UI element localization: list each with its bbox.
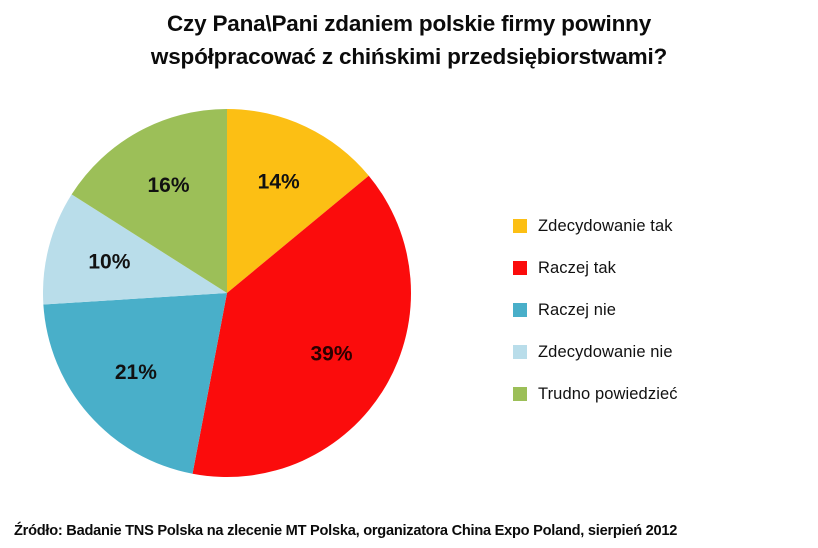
chart-page: Czy Pana\Pani zdaniem polskie firmy powi…: [0, 0, 818, 548]
legend-item[interactable]: Raczej tak: [513, 247, 793, 289]
legend-item-label: Raczej tak: [538, 259, 616, 278]
legend-color-swatch: [513, 261, 527, 275]
legend-item-label: Zdecydowanie tak: [538, 217, 673, 236]
pie-slice-value-label: 14%: [258, 171, 300, 194]
legend-color-swatch: [513, 303, 527, 317]
legend-item[interactable]: Zdecydowanie tak: [513, 205, 793, 247]
pie-slice-group: [43, 109, 411, 477]
legend-item[interactable]: Zdecydowanie nie: [513, 331, 793, 373]
legend-item-label: Raczej nie: [538, 301, 616, 320]
source-note: Źródło: Badanie TNS Polska na zlecenie M…: [14, 523, 814, 539]
pie-chart-svg: 14%39%21%10%16%: [43, 109, 411, 477]
pie-slice-value-label: 10%: [88, 250, 130, 273]
pie-chart: 14%39%21%10%16%: [43, 109, 411, 477]
legend-color-swatch: [513, 387, 527, 401]
pie-slice-value-label: 16%: [147, 174, 189, 197]
legend-color-swatch: [513, 345, 527, 359]
legend-item-label: Zdecydowanie nie: [538, 343, 673, 362]
legend-item[interactable]: Trudno powiedzieć: [513, 373, 793, 415]
legend-color-swatch: [513, 219, 527, 233]
page-title: Czy Pana\Pani zdaniem polskie firmy powi…: [0, 8, 818, 73]
pie-slice-value-label: 39%: [310, 342, 352, 365]
legend-item-label: Trudno powiedzieć: [538, 385, 678, 404]
pie-slice-value-label: 21%: [115, 361, 157, 384]
chart-legend: Zdecydowanie takRaczej takRaczej nieZdec…: [513, 205, 793, 415]
legend-item[interactable]: Raczej nie: [513, 289, 793, 331]
